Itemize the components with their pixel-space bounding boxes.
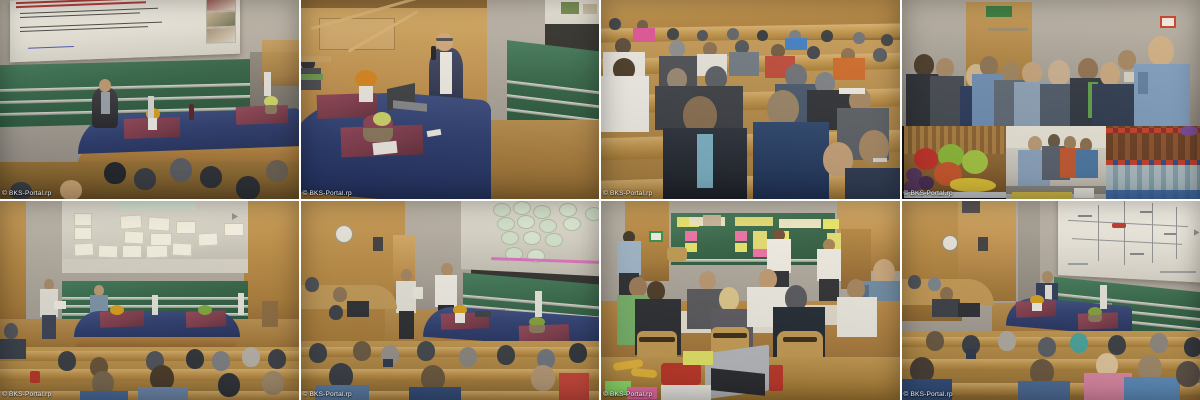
photo-3-watermark: © BKS-Portal.rp (603, 190, 652, 197)
gallery-photo-2[interactable]: © BKS-Portal.rp (301, 0, 600, 199)
photo-1-scene (0, 0, 299, 199)
photo-7-watermark: © BKS-Portal.rp (603, 391, 652, 398)
photo-6-scene (301, 201, 600, 400)
gallery-photo-4[interactable]: © BKS-Portal.rp (902, 0, 1200, 199)
photo-4-subimage-buffet (1006, 126, 1106, 199)
photo-4-scene (902, 0, 1200, 199)
photo-4-subimage-fruit (904, 126, 1006, 198)
photo-2-scene (301, 0, 600, 199)
photo-5-watermark: © BKS-Portal.rp (2, 391, 51, 398)
gallery-photo-5[interactable]: © BKS-Portal.rp (0, 201, 299, 400)
gallery-photo-7[interactable]: © BKS-Portal.rp (601, 201, 900, 400)
photo-4-watermark: © BKS-Portal.rp (904, 190, 953, 197)
photo-3-scene (601, 0, 900, 199)
gallery-photo-3[interactable]: © BKS-Portal.rp (601, 0, 900, 199)
photo-5-scene (0, 201, 299, 400)
photo-1-watermark: © BKS-Portal.rp (2, 190, 51, 197)
gallery-photo-6[interactable]: © BKS-Portal.rp (301, 201, 600, 400)
photo-7-scene (601, 201, 900, 400)
photo-gallery-grid: © BKS-Portal.rp (0, 0, 1200, 400)
gallery-photo-8[interactable]: © BKS-Portal.rp (902, 201, 1200, 400)
photo-6-watermark: © BKS-Portal.rp (303, 391, 352, 398)
photo-4-subimage-bottles (1106, 126, 1200, 199)
photo-8-watermark: © BKS-Portal.rp (904, 391, 953, 398)
photo-8-scene (902, 201, 1200, 400)
gallery-photo-1[interactable]: © BKS-Portal.rp (0, 0, 299, 199)
photo-2-watermark: © BKS-Portal.rp (303, 190, 352, 197)
